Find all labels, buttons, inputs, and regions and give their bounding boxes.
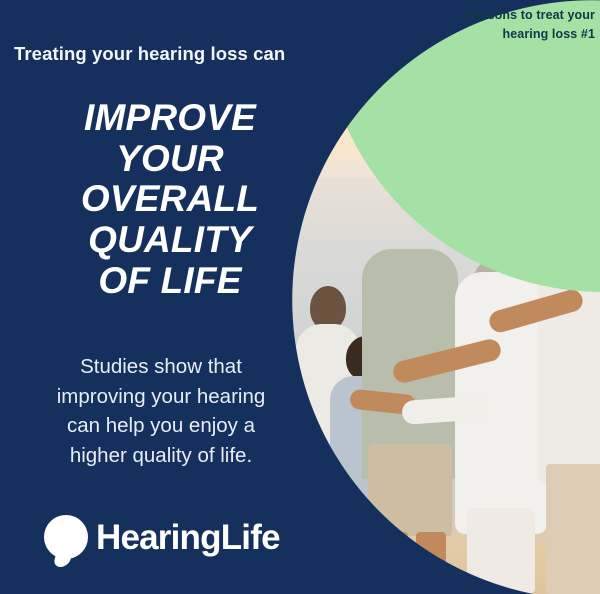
body-line-4: higher quality of life.: [22, 441, 300, 471]
headline-line-3: OVERALL: [20, 179, 320, 220]
speech-bubble-icon: [44, 515, 88, 559]
kicker-text: Reasons to treat your hearing loss #1: [435, 6, 595, 45]
headline-line-2: YOUR: [20, 139, 320, 180]
logo-wordmark: HearingLife: [96, 520, 280, 555]
body-line-3: can help you enjoy a: [22, 411, 300, 441]
kicker-line-2: hearing loss #1: [435, 25, 595, 44]
body-line-1: Studies show that: [22, 352, 300, 382]
headline-line-5: OF LIFE: [20, 261, 320, 302]
advertisement-canvas: Reasons to treat your hearing loss #1 Tr…: [0, 0, 600, 594]
body-line-2: improving your hearing: [22, 382, 300, 412]
kicker-line-1: Reasons to treat your: [435, 6, 595, 25]
headline-line-4: QUALITY: [20, 220, 320, 261]
eyebrow-text: Treating your hearing loss can: [14, 43, 285, 65]
hearinglife-logo[interactable]: HearingLife: [44, 515, 280, 559]
headline: IMPROVE YOUR OVERALL QUALITY OF LIFE: [20, 98, 320, 301]
headline-line-1: IMPROVE: [20, 98, 320, 139]
body-copy: Studies show that improving your hearing…: [22, 352, 300, 471]
